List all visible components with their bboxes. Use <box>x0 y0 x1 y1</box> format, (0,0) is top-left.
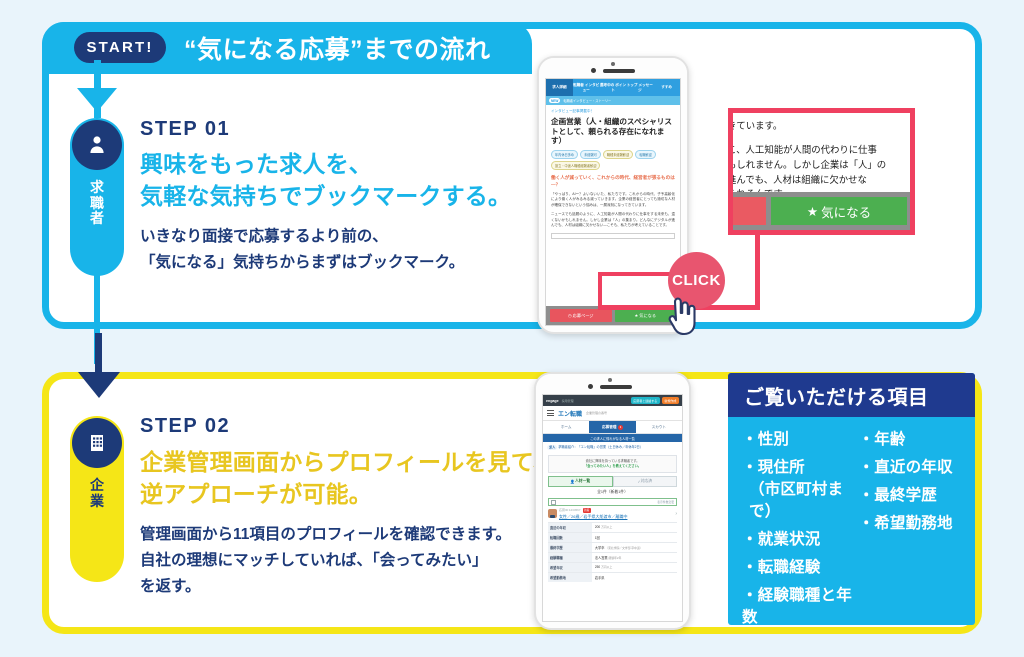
phone2-brand: エン転職 <box>558 409 582 418</box>
phone2-person-link[interactable]: 女性／26歳／岩手県大船渡市／離職中 <box>559 514 627 520</box>
zoom-line-1: きています。 <box>728 119 910 134</box>
info-item-sub: （市区町村まで） <box>749 479 859 523</box>
zoom-connector-vertical <box>755 235 760 310</box>
list-item: ・年齢 <box>859 429 976 451</box>
phone1-sensor-icon <box>611 62 615 66</box>
phone2-topbar-sub: 採用管理 <box>562 399 574 403</box>
zoom-callout-button-label: 気になる <box>821 202 871 221</box>
phone2-screen: engage 採用管理 応募者と連絡する 新規作成 エン転職 企業管理の番号 ホ… <box>542 394 683 622</box>
phone1-subheading: 働く人が減っていく、これからの時代、経営者が張るものは―？ <box>551 175 675 188</box>
phone1-content: インタビュー記事掲載中！ 企画営業（人・組織のスペシャリストとして、頼られる存在… <box>546 105 680 243</box>
phone1-top-bezel <box>539 58 687 78</box>
phone2-section-bar: この求人に憧れがなる人材一覧 <box>543 434 682 442</box>
phone2-row-label: 転職回数 <box>548 533 592 542</box>
phone2-count: 全1件（新着1件） <box>543 487 682 498</box>
phone2-row-value: 大学卒 （東北学院／文学部 卒中退） <box>592 543 677 552</box>
phone2-row-label: 直近の年収 <box>548 523 592 532</box>
start-badge: START! <box>74 32 166 63</box>
phone2-tab-applications[interactable]: 応募管理 1 <box>589 421 635 433</box>
list-item: ・転職経験 <box>742 557 859 579</box>
phone-mockup-step2: engage 採用管理 応募者と連絡する 新規作成 エン転職 企業管理の番号 ホ… <box>534 372 691 630</box>
phone2-select-all-checkbox[interactable] <box>551 500 556 505</box>
phone1-apply-button[interactable]: ◷ 応募ページ <box>550 309 612 322</box>
phone2-row-unit: （東北学院／文学部 卒中退） <box>605 546 642 550</box>
seeker-pill: 求職者 <box>70 118 124 276</box>
phone2-breadcrumb-text: 求職者紹介：「エン転職」の営業（土日休み／年休年2日） <box>558 445 643 449</box>
phone2-notice: 貴社に興味を持っている求職者です。 「会ってみたい人」を教えてください。 <box>548 455 677 473</box>
phone2-row-label: 経験職種 <box>548 553 592 562</box>
phone1-interested-label: 気になる <box>639 313 656 319</box>
phone2-row-label: 希望勤務地 <box>548 573 592 582</box>
step1-body-line2: 「気になる」気持ちからまずはブックマーク。 <box>140 250 464 275</box>
phone1-breadcrumb-tag: NEW <box>549 98 560 103</box>
phone2-row-value-text: 大学卒 <box>595 546 605 550</box>
zoom-line-2: こ、人工知能が人間の代わりに仕事 <box>728 143 910 158</box>
info-item-text: 最終学歴 <box>874 487 937 504</box>
phone2-sensor-icon <box>608 378 612 382</box>
infographic-root: START! “気になる応募”までの流れ 求職者 STEP 01 興味をもった求… <box>0 0 1024 657</box>
phone2-tab-badge: 1 <box>618 425 623 430</box>
list-item: ・経験職種と年数 <box>742 585 859 625</box>
step2-body-line2: 自社の理想にマッチしていれば、「会ってみたい」 <box>140 548 488 573</box>
company-pill: 企業 <box>70 416 124 582</box>
phone2-row-unit: 経験年2年 <box>609 556 622 560</box>
list-item: ・最終学歴 <box>859 485 976 507</box>
step1-body-line1: いきなり面接で応募するより前の、 <box>140 224 388 249</box>
phone1-camera-icon <box>591 68 596 73</box>
list-item: ・希望勤務地 <box>859 513 976 535</box>
phone1-tag: 職種未経験歓迎 <box>603 150 633 159</box>
phone1-nav-tab-1[interactable]: 転職者 インタビュー <box>573 83 600 92</box>
phone1-tag-list: 年内休日多め 未経験可 職種未経験歓迎 転職歓迎 設立・中途人職種経験者歓迎 <box>551 150 675 170</box>
step1-card-header: START! “気になる応募”までの流れ <box>42 22 532 74</box>
phone2-person-new-badge: 新着 <box>583 508 591 513</box>
phone1-input-field[interactable] <box>551 233 675 239</box>
step2-headline-line1: 企業管理画面からプロフィールを見て、 <box>140 447 556 478</box>
phone1-apply-label: 応募ページ <box>573 313 594 319</box>
start-arrow-icon <box>77 88 117 112</box>
step2-arrow-icon <box>78 372 120 398</box>
building-icon <box>72 418 122 468</box>
info-item-text: 現住所 <box>758 459 805 476</box>
phone2-topbar-logo: engage <box>546 399 559 403</box>
phone2-subtab-list-label: 人材一覧 <box>575 479 590 484</box>
zoom-callout-action-bar: ★ 気になる <box>733 192 910 230</box>
info-item-text: 年齢 <box>874 431 905 448</box>
phone1-breadcrumb-text: 転職者インタビュー・ストーリー <box>563 98 611 103</box>
step2-label: STEP 02 <box>140 415 230 438</box>
avatar <box>548 509 557 518</box>
table-row: 希望年収 250 万円以上 <box>548 562 677 572</box>
info-panel-right-column: ・年齢 ・直近の年収 ・最終学歴 ・希望勤務地 <box>859 429 976 625</box>
chevron-right-icon[interactable]: › <box>675 511 677 517</box>
phone2-notice-line2: 「会ってみたい人」を教えてください。 <box>584 464 641 468</box>
zoom-callout-apply-button[interactable] <box>728 197 766 225</box>
phone2-tab-scout[interactable]: スカウト <box>636 421 682 433</box>
phone1-nav-tabs[interactable]: 求人詳細 転職者 インタビュー 選考中の ポイント トップ メッセージ すすめ <box>546 79 680 96</box>
info-panel-left-column: ・性別 ・現住所（市区町村まで） ・就業状況 ・転職経験 ・経験職種と年数 ・希… <box>742 429 859 625</box>
phone2-contact-button[interactable]: 応募者と連絡する <box>631 397 660 403</box>
phone2-subtab-done[interactable]: ✓ 対応済 <box>613 476 678 487</box>
phone2-row-unit: 万円以上 <box>601 525 612 529</box>
info-item-text: 経験職種と年数 <box>742 587 852 625</box>
hand-pointer-icon <box>664 296 698 341</box>
phone1-breadcrumb: NEW 転職者インタビュー・ストーリー <box>546 96 680 105</box>
phone1-tag: 設立・中途人職種経験者歓迎 <box>551 161 600 170</box>
phone2-row-value: 200 万円以上 <box>592 523 677 531</box>
phone2-person-meta: 応募ID:1234567 <box>559 508 581 512</box>
list-item: ・就業状況 <box>742 529 859 551</box>
zoom-callout-box: きています。 こ、人工知能が人間の代わりに仕事 もしれません。しかし企業は「人」… <box>728 108 915 235</box>
phone2-row-value-text: 1回 <box>595 536 600 540</box>
phone2-display-count-link[interactable]: 表示件数変更 <box>657 500 674 504</box>
page-title: “気になる応募”までの流れ <box>184 30 491 66</box>
step2-body-line1: 管理画面から11項目のプロフィールを確認できます。 <box>140 522 511 547</box>
phone2-header: エン転職 企業管理の番号 <box>543 406 682 421</box>
info-item-text: 性別 <box>758 431 789 448</box>
phone2-topbar-actions: 応募者と連絡する 新規作成 <box>631 397 679 403</box>
phone2-row-unit: 万円以上 <box>601 565 612 569</box>
clock-icon: ◷ <box>568 313 572 318</box>
info-item-text: 直近の年収 <box>874 459 953 476</box>
zoom-callout-interested-button[interactable]: ★ 気になる <box>771 197 907 225</box>
step1-headline-line2: 気軽な気持ちでブックマークする。 <box>140 181 511 212</box>
step2-body-line3: を返す。 <box>140 574 200 599</box>
phone2-row-label: 最終学歴 <box>548 543 592 552</box>
phone2-tabs: ホーム 応募管理 1 スカウト <box>543 421 682 434</box>
phone2-person-row: 応募ID:1234567 新着 女性／26歳／岩手県大船渡市／離職中 › <box>548 508 677 520</box>
phone2-top-bezel <box>536 374 689 394</box>
phone2-row-value: 1回 <box>592 533 677 542</box>
phone2-tab-home[interactable]: ホーム <box>543 421 589 433</box>
phone1-kicker: インタビュー記事掲載中！ <box>551 109 675 114</box>
info-item-text: 希望勤務地 <box>874 515 953 532</box>
info-panel-columns: ・性別 ・現住所（市区町村まで） ・就業状況 ・転職経験 ・経験職種と年数 ・希… <box>728 417 975 625</box>
list-item: ・直近の年収 <box>859 457 976 479</box>
star-icon: ★ <box>807 204 818 219</box>
list-item: ・性別 <box>742 429 859 451</box>
phone1-paragraph-2: ニュースでも話題のように、人工知能が人間の代わりに仕事をする未来も、遠くないかも… <box>551 212 675 228</box>
list-item: ・現住所（市区町村まで） <box>742 457 859 523</box>
company-pill-label: 企業 <box>89 478 105 509</box>
phone1-job-title: 企画営業（人・組織のスペシャリストとして、頼られる存在になれます） <box>551 117 675 146</box>
info-panel-title: ご覧いただける項目 <box>728 373 975 417</box>
phone2-camera-icon <box>588 384 593 389</box>
phone2-speaker-icon <box>600 385 632 389</box>
phone1-tag: 転職歓迎 <box>635 150 656 159</box>
phone2-row-value: 岩手県 <box>592 573 677 582</box>
phone1-tag: 年内休日多め <box>551 150 578 159</box>
seeker-pill-label: 求職者 <box>89 180 105 227</box>
table-row: 転職回数 1回 <box>548 532 677 542</box>
phone1-nav-tab-4[interactable]: すすめ <box>653 85 680 89</box>
zoom-line-4: 進んでも、人材は組織に欠かせな <box>728 173 910 188</box>
phone2-brand-sub: 企業管理の番号 <box>586 411 607 415</box>
phone2-row-value-text: 法人営業 <box>595 556 608 560</box>
table-row: 直近の年収 200 万円以上 <box>548 522 677 532</box>
phone2-subtab-done-label: 対応済 <box>641 479 652 484</box>
phone2-breadcrumb: 求人 求職者紹介：「エン転職」の営業（土日休み／年休年2日） <box>543 442 682 453</box>
phone1-tag: 未経験可 <box>580 150 601 159</box>
table-row: 希望勤務地 岩手県 <box>548 572 677 582</box>
step1-label: STEP 01 <box>140 118 230 141</box>
phone2-row-value-text: 200 <box>595 525 600 529</box>
phone2-row-value-text: 岩手県 <box>595 576 605 580</box>
phone2-checkbox-row: 表示件数変更 <box>548 498 677 506</box>
phone1-nav-tab-3[interactable]: トップ メッセージ <box>626 83 653 92</box>
phone2-row-value: 250 万円以上 <box>592 563 677 571</box>
phone2-topbar: engage 採用管理 応募者と連絡する 新規作成 <box>543 395 682 406</box>
info-item-text: 就業状況 <box>758 531 821 548</box>
phone2-create-button[interactable]: 新規作成 <box>662 397 679 403</box>
phone2-profile-table: 直近の年収 200 万円以上 転職回数 1回 最終学歴 大学卒 （東北学院／文学… <box>548 522 677 582</box>
phone2-subtab-list[interactable]: 👤 人材一覧 <box>548 476 613 487</box>
phone2-row-label: 希望年収 <box>548 563 592 572</box>
phone1-paragraph-1: 「やっぱり、AIー？よいないいた、私たちです。これからの時代、子予高齢化により働… <box>551 192 675 208</box>
phone1-nav-tab-0[interactable]: 求人詳細 <box>546 79 573 96</box>
star-icon: ★ <box>634 313 638 318</box>
hamburger-menu-icon[interactable] <box>547 410 554 416</box>
info-panel: ご覧いただける項目 ・性別 ・現住所（市区町村まで） ・就業状況 ・転職経験 ・… <box>728 373 975 625</box>
phone1-speaker-icon <box>603 69 635 73</box>
phone2-subtabs: 👤 人材一覧 ✓ 対応済 <box>548 476 677 487</box>
phone2-row-value: 法人営業 経験年2年 <box>592 553 677 562</box>
table-row: 経験職種 法人営業 経験年2年 <box>548 552 677 562</box>
zoom-line-3: もしれません。しかし企業は「人」の <box>728 158 910 173</box>
info-item-text: 転職経験 <box>758 559 821 576</box>
step1-headline-line1: 興味をもった求人を、 <box>140 149 372 180</box>
phone1-nav-tab-2[interactable]: 選考中の ポイント <box>600 83 627 92</box>
phone2-breadcrumb-tag: 求人 <box>547 445 557 450</box>
phone2-tab-applications-label: 応募管理 <box>602 425 616 430</box>
table-row: 最終学歴 大学卒 （東北学院／文学部 卒中退） <box>548 542 677 552</box>
person-icon <box>72 120 122 170</box>
step2-headline-line2: 逆アプローチが可能。 <box>140 479 372 510</box>
phone2-row-value-text: 250 <box>595 565 600 569</box>
